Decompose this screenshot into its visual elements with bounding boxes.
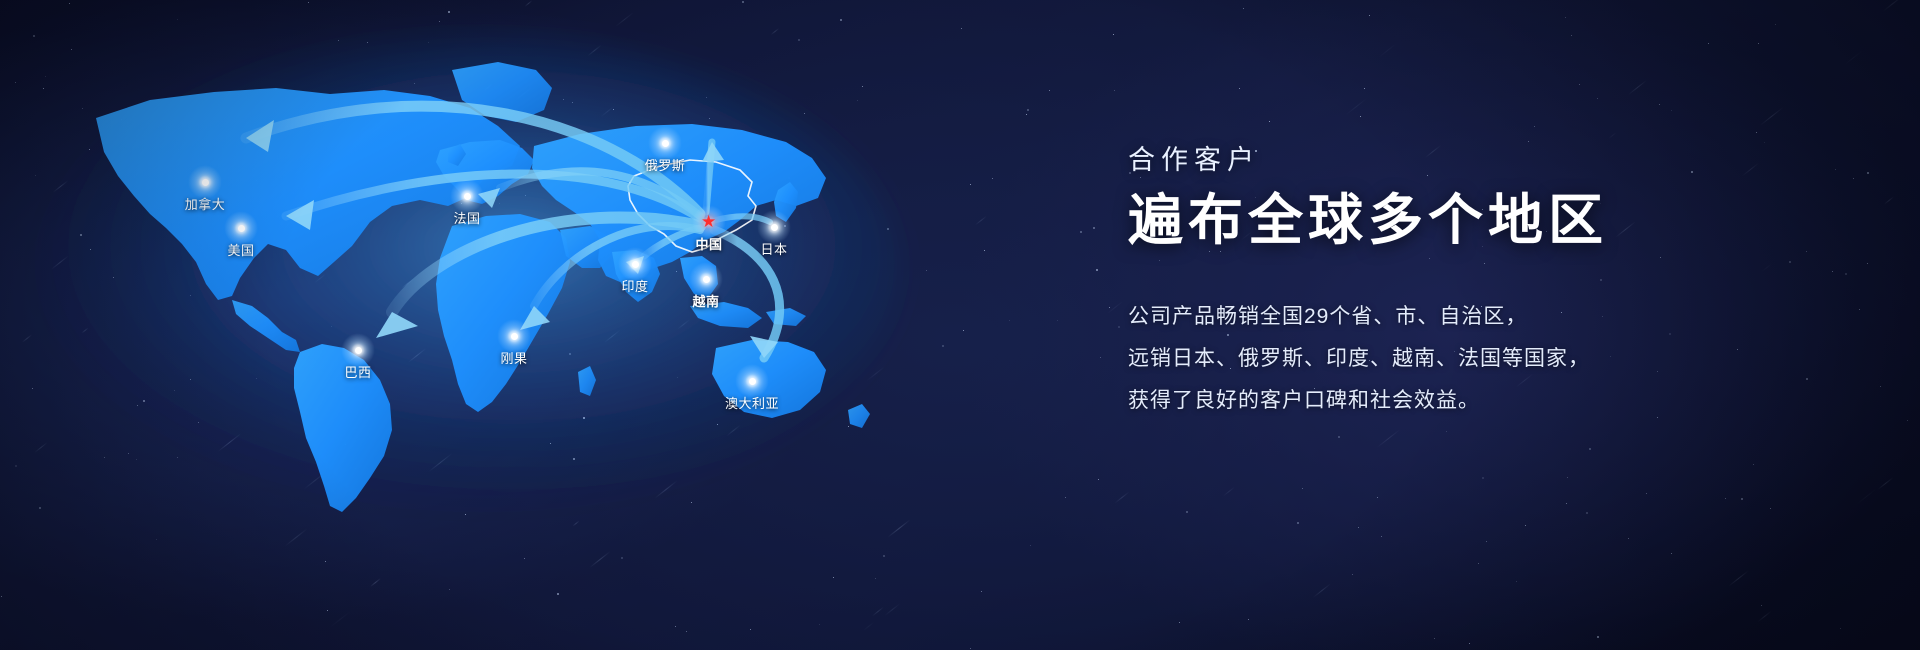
star-dot (1853, 178, 1854, 179)
star-dot (1867, 263, 1868, 264)
description-paragraph: 公司产品畅销全国29个省、市、自治区，远销日本、俄罗斯、印度、越南、法国等国家，… (1128, 296, 1828, 422)
description-line-3: 获得了良好的客户口碑和社会效益。 (1128, 380, 1828, 422)
star-streak (1760, 107, 1783, 126)
star-streak (1883, 0, 1903, 11)
star-dot (1248, 619, 1249, 620)
star-dot (1770, 508, 1771, 509)
marker-dot-icon (632, 261, 639, 268)
star-dot (1565, 17, 1566, 18)
global-clients-banner: 加拿大美国巴西法国刚果俄罗斯印度★中国日本越南澳大利亚 合作客户 遍布全球多个地… (0, 0, 1920, 650)
star-streak (1878, 477, 1894, 489)
star-dot (1338, 436, 1340, 438)
star-dot (1597, 98, 1598, 99)
star-dot (1840, 628, 1841, 629)
star-dot (1446, 431, 1447, 432)
marker-label: 法国 (453, 208, 480, 227)
star-dot (1179, 622, 1180, 623)
world-map-svg (0, 0, 1120, 650)
star-dot (1469, 643, 1470, 644)
star-dot (1659, 104, 1660, 105)
marker-label: 中国 (695, 234, 722, 253)
red-star-icon: ★ (701, 213, 716, 230)
marker-label: 巴西 (344, 362, 371, 381)
star-dot (1832, 271, 1833, 272)
marker-label: 日本 (760, 239, 787, 258)
star-dot (1486, 541, 1487, 542)
copy-block: 合作客户 遍布全球多个地区 公司产品畅销全国29个省、市、自治区，远销日本、俄罗… (1128, 138, 1828, 422)
star-streak (1757, 611, 1771, 622)
star-dot (1646, 493, 1647, 494)
star-dot (1725, 498, 1726, 499)
marker-dot-icon (771, 224, 778, 231)
star-dot (1835, 169, 1836, 170)
star-dot (1867, 172, 1869, 174)
star-dot (1360, 116, 1361, 117)
star-dot (1741, 498, 1743, 500)
star-dot (1186, 511, 1188, 513)
star-dot (1628, 538, 1629, 539)
star-dot (1243, 8, 1244, 9)
star-dot (1761, 605, 1762, 606)
star-streak (1379, 44, 1396, 58)
marker-dot-icon (202, 179, 209, 186)
star-dot (1239, 88, 1240, 89)
star-dot (1859, 309, 1860, 310)
kicker-text: 合作客户 (1128, 138, 1828, 177)
star-dot (1297, 522, 1299, 524)
star-dot (1671, 553, 1672, 554)
star-dot (1589, 448, 1591, 450)
star-dot (1377, 497, 1378, 498)
star-streak (1223, 487, 1235, 496)
marker-label: 越南 (692, 291, 719, 310)
star-dot (1579, 84, 1580, 85)
description-line-2: 远销日本、俄罗斯、印度、越南、法国等国家， (1128, 338, 1828, 380)
star-dot (1708, 43, 1709, 44)
marker-dot-icon (464, 193, 471, 200)
star-dot (1753, 464, 1754, 465)
star-dot (1845, 273, 1847, 275)
star-streak (1377, 429, 1400, 448)
star-dot (1364, 88, 1365, 89)
star-dot (1671, 110, 1672, 111)
star-dot (1756, 132, 1757, 133)
star-dot (1586, 512, 1588, 514)
star-dot (1269, 121, 1270, 122)
star-dot (1525, 525, 1526, 526)
marker-label: 印度 (621, 276, 648, 295)
marker-dot-icon (662, 140, 669, 147)
star-dot (1478, 563, 1479, 564)
star-streak (1884, 196, 1894, 204)
star-streak (1856, 488, 1876, 504)
marker-label: 刚果 (500, 348, 527, 367)
star-dot (1775, 24, 1776, 25)
star-dot (1302, 488, 1303, 489)
marker-dot-icon (238, 225, 245, 232)
world-map: 加拿大美国巴西法国刚果俄罗斯印度★中国日本越南澳大利亚 (0, 0, 1120, 650)
marker-dot-icon (749, 378, 756, 385)
marker-label: 美国 (227, 240, 254, 259)
star-dot (1597, 636, 1599, 638)
star-dot (1880, 386, 1881, 387)
star-dot (1567, 477, 1568, 478)
star-dot (1571, 35, 1572, 36)
star-dot (1434, 638, 1435, 639)
description-line-1: 公司产品畅销全国29个省、市、自治区， (1128, 296, 1828, 338)
star-dot (1534, 126, 1535, 127)
marker-label: 加拿大 (185, 194, 226, 213)
marker-dot-icon (511, 333, 518, 340)
star-streak (1628, 80, 1647, 95)
star-dot (1516, 581, 1517, 582)
star-dot (1758, 43, 1759, 44)
star-dot (1907, 420, 1908, 421)
headline-text: 遍布全球多个地区 (1128, 191, 1828, 250)
star-dot (1482, 477, 1484, 479)
star-streak (1346, 98, 1368, 115)
marker-dot-icon (703, 276, 710, 283)
star-streak (1313, 583, 1331, 597)
star-dot (1369, 15, 1370, 16)
star-dot (1566, 503, 1567, 504)
star-streak (1843, 51, 1862, 66)
marker-dot-icon (355, 347, 362, 354)
star-dot (1352, 574, 1353, 575)
marker-label: 俄罗斯 (645, 155, 686, 174)
star-streak (1728, 570, 1748, 586)
star-dot (1358, 527, 1359, 528)
marker-label: 澳大利亚 (725, 393, 779, 412)
star-dot (1381, 536, 1382, 537)
